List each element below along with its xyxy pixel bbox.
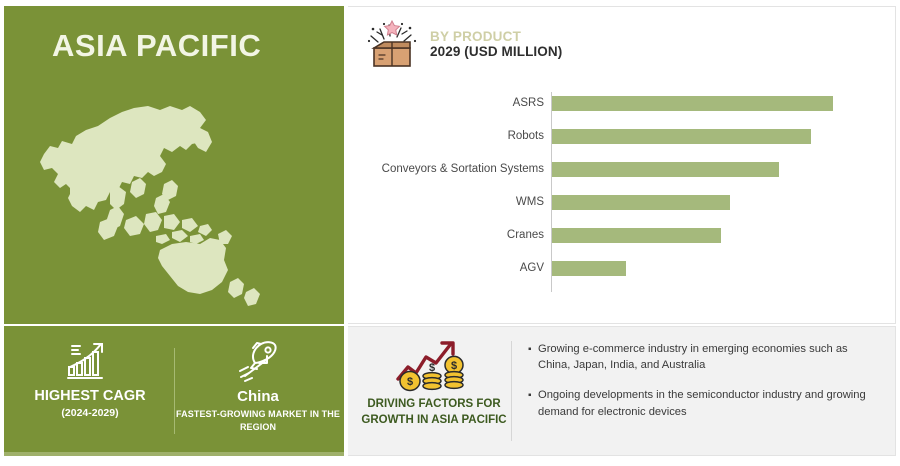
bar-row: Conveyors & Sortation Systems: [348, 161, 896, 177]
bar-value: [552, 195, 730, 210]
svg-text:$: $: [407, 376, 413, 388]
drivers-panel: $$$ DRIVING FACTORS FOR GROWTH IN ASIA P…: [348, 326, 896, 456]
bar-category-label: WMS: [348, 194, 544, 210]
bar-row: ASRS: [348, 95, 896, 111]
bar-value: [552, 162, 779, 177]
bar-category-label: Cranes: [348, 227, 544, 243]
bar-row: WMS: [348, 194, 896, 210]
region-panel: ASIA PACIFIC: [4, 6, 344, 324]
bullet-text: Ongoing developments in the semiconducto…: [538, 387, 880, 419]
drivers-divider: [511, 341, 512, 441]
chart-subtitle: 2029 (USD MILLION): [430, 44, 562, 59]
bar-value: [552, 261, 626, 276]
bar-category-label: Robots: [348, 128, 544, 144]
rocket-arrow-icon: [231, 336, 285, 384]
page-title: ASIA PACIFIC: [52, 28, 261, 64]
drivers-title: DRIVING FACTORS FOR GROWTH IN ASIA PACIF…: [360, 397, 508, 428]
bar-row: AGV: [348, 260, 896, 276]
bar-value: [552, 96, 833, 111]
svg-text:$: $: [451, 360, 457, 372]
bar-chart-plot: ASRSRobotsConveyors & Sortation SystemsW…: [348, 87, 896, 297]
cagr-period: (2024-2029): [61, 407, 118, 420]
bar-category-label: ASRS: [348, 95, 544, 111]
by-product-chart-panel: BY PRODUCT 2029 (USD MILLION) ASRSRobots…: [348, 6, 896, 324]
chart-kicker: BY PRODUCT: [430, 29, 562, 44]
infographic-canvas: ASIA PACIFIC: [0, 0, 900, 466]
country-caption: FASTEST-GROWING MARKET IN THE REGION: [176, 408, 340, 434]
bullet-marker-icon: ▪: [528, 387, 538, 404]
bar-value: [552, 129, 811, 144]
highlights-divider: [174, 348, 175, 434]
highlights-panel: HIGHEST CAGR (2024-2029) China FASTEST-: [4, 326, 344, 452]
growth-bar-chart-arrow-icon: [63, 336, 117, 384]
driver-bullet: ▪Ongoing developments in the semiconduct…: [528, 387, 880, 419]
driver-bullet: ▪Growing e-commerce industry in emerging…: [528, 341, 880, 373]
bar-row: Robots: [348, 128, 896, 144]
drivers-bullet-list: ▪Growing e-commerce industry in emerging…: [528, 341, 880, 434]
bar-value: [552, 228, 721, 243]
highlight-cagr: HIGHEST CAGR (2024-2029): [10, 336, 170, 444]
highlight-country: China FASTEST-GROWING MARKET IN THE REGI…: [176, 336, 340, 444]
asia-pacific-map-icon: [14, 86, 344, 321]
bar-row: Cranes: [348, 227, 896, 243]
bar-rows: ASRSRobotsConveyors & Sortation SystemsW…: [348, 87, 896, 297]
bullet-marker-icon: ▪: [528, 341, 538, 358]
bar-category-label: AGV: [348, 260, 544, 276]
svg-text:$: $: [429, 362, 435, 374]
chart-header: BY PRODUCT 2029 (USD MILLION): [364, 15, 562, 73]
country-name: China: [237, 388, 279, 405]
bar-category-label: Conveyors & Sortation Systems: [348, 161, 544, 177]
cagr-label: HIGHEST CAGR: [34, 388, 145, 405]
coins-growth-arrow-icon: $$$: [388, 335, 480, 393]
drivers-header: $$$ DRIVING FACTORS FOR GROWTH IN ASIA P…: [360, 335, 508, 428]
open-box-confetti-icon: [364, 15, 420, 73]
green-panel-strip: [4, 452, 344, 456]
bullet-text: Growing e-commerce industry in emerging …: [538, 341, 880, 373]
